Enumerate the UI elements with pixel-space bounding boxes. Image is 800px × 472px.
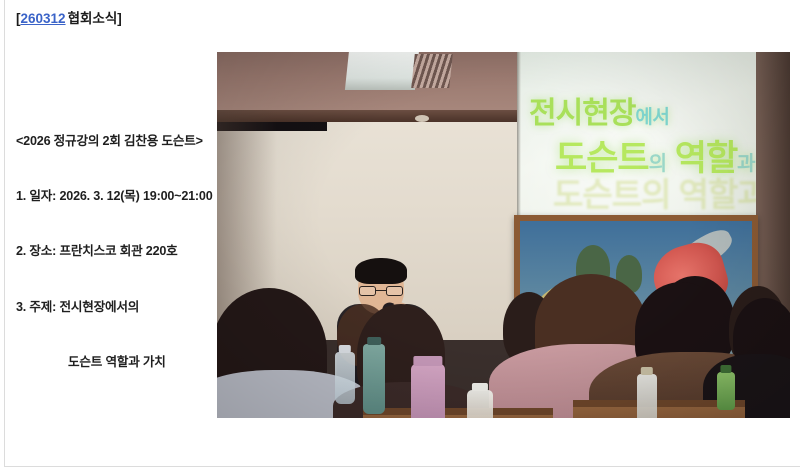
ceiling-light-panel: [345, 52, 419, 90]
patterned-bottle: [363, 344, 385, 414]
water-bottle: [637, 374, 657, 418]
pink-tumbler: [411, 364, 445, 418]
photo-scene: 전시현장에서 도슨트의 역할과 가 도슨트의 역할과 가: [217, 52, 790, 418]
article-body: <2026 정규강의 2회 김찬용 도슨트> 1. 일자: 2026. 3. 1…: [16, 40, 212, 472]
post-header: [260312협회소식]: [16, 10, 122, 28]
header-close-bracket: ]: [117, 11, 122, 26]
left-border-rule: [4, 0, 5, 466]
smoke-detector-icon: [415, 115, 429, 122]
air-vent-icon: [411, 54, 453, 88]
lecture-photo: 전시현장에서 도슨트의 역할과 가 도슨트의 역할과 가: [217, 52, 790, 418]
bottle-cap: [367, 337, 381, 345]
bottle-cap: [641, 367, 653, 375]
notice-block: <2026 정규강의 2회 김찬용 도슨트> 1. 일자: 2026. 3. 1…: [16, 95, 212, 408]
slide-line-1: 전시현장에서: [529, 88, 669, 132]
post-category-label: 협회소식: [66, 11, 118, 26]
water-bottle: [467, 390, 493, 418]
bottle-cap: [720, 365, 731, 373]
water-bottle: [335, 352, 355, 404]
green-bottle: [717, 372, 735, 410]
slide-line1-small: 에서: [635, 107, 669, 128]
post-page: [260312협회소식] <2026 정규강의 2회 김찬용 도슨트> 1. 일…: [0, 0, 800, 472]
speaker-hair: [355, 258, 407, 284]
notice-item-topic-cont: 도슨트 역할과 가치: [16, 353, 212, 371]
slide-line1-big: 전시현장: [529, 97, 635, 130]
tumbler-lid: [413, 356, 442, 366]
desk-edge: [363, 408, 553, 415]
slide-reflection: 도슨트의 역할과 가: [553, 168, 790, 216]
notice-item-place: 2. 장소: 프란치스코 회관 220호: [16, 242, 212, 260]
paragraph-gap-1: [16, 463, 212, 472]
post-code-link[interactable]: 260312: [21, 11, 66, 26]
bottle-cap: [339, 345, 351, 353]
notice-title: <2026 정규강의 2회 김찬용 도슨트>: [16, 132, 212, 150]
notice-item-topic: 3. 주제: 전시현장에서의: [16, 298, 212, 316]
notice-item-date: 1. 일자: 2026. 3. 12(목) 19:00~21:00: [16, 187, 212, 205]
bottle-cap: [472, 383, 488, 391]
